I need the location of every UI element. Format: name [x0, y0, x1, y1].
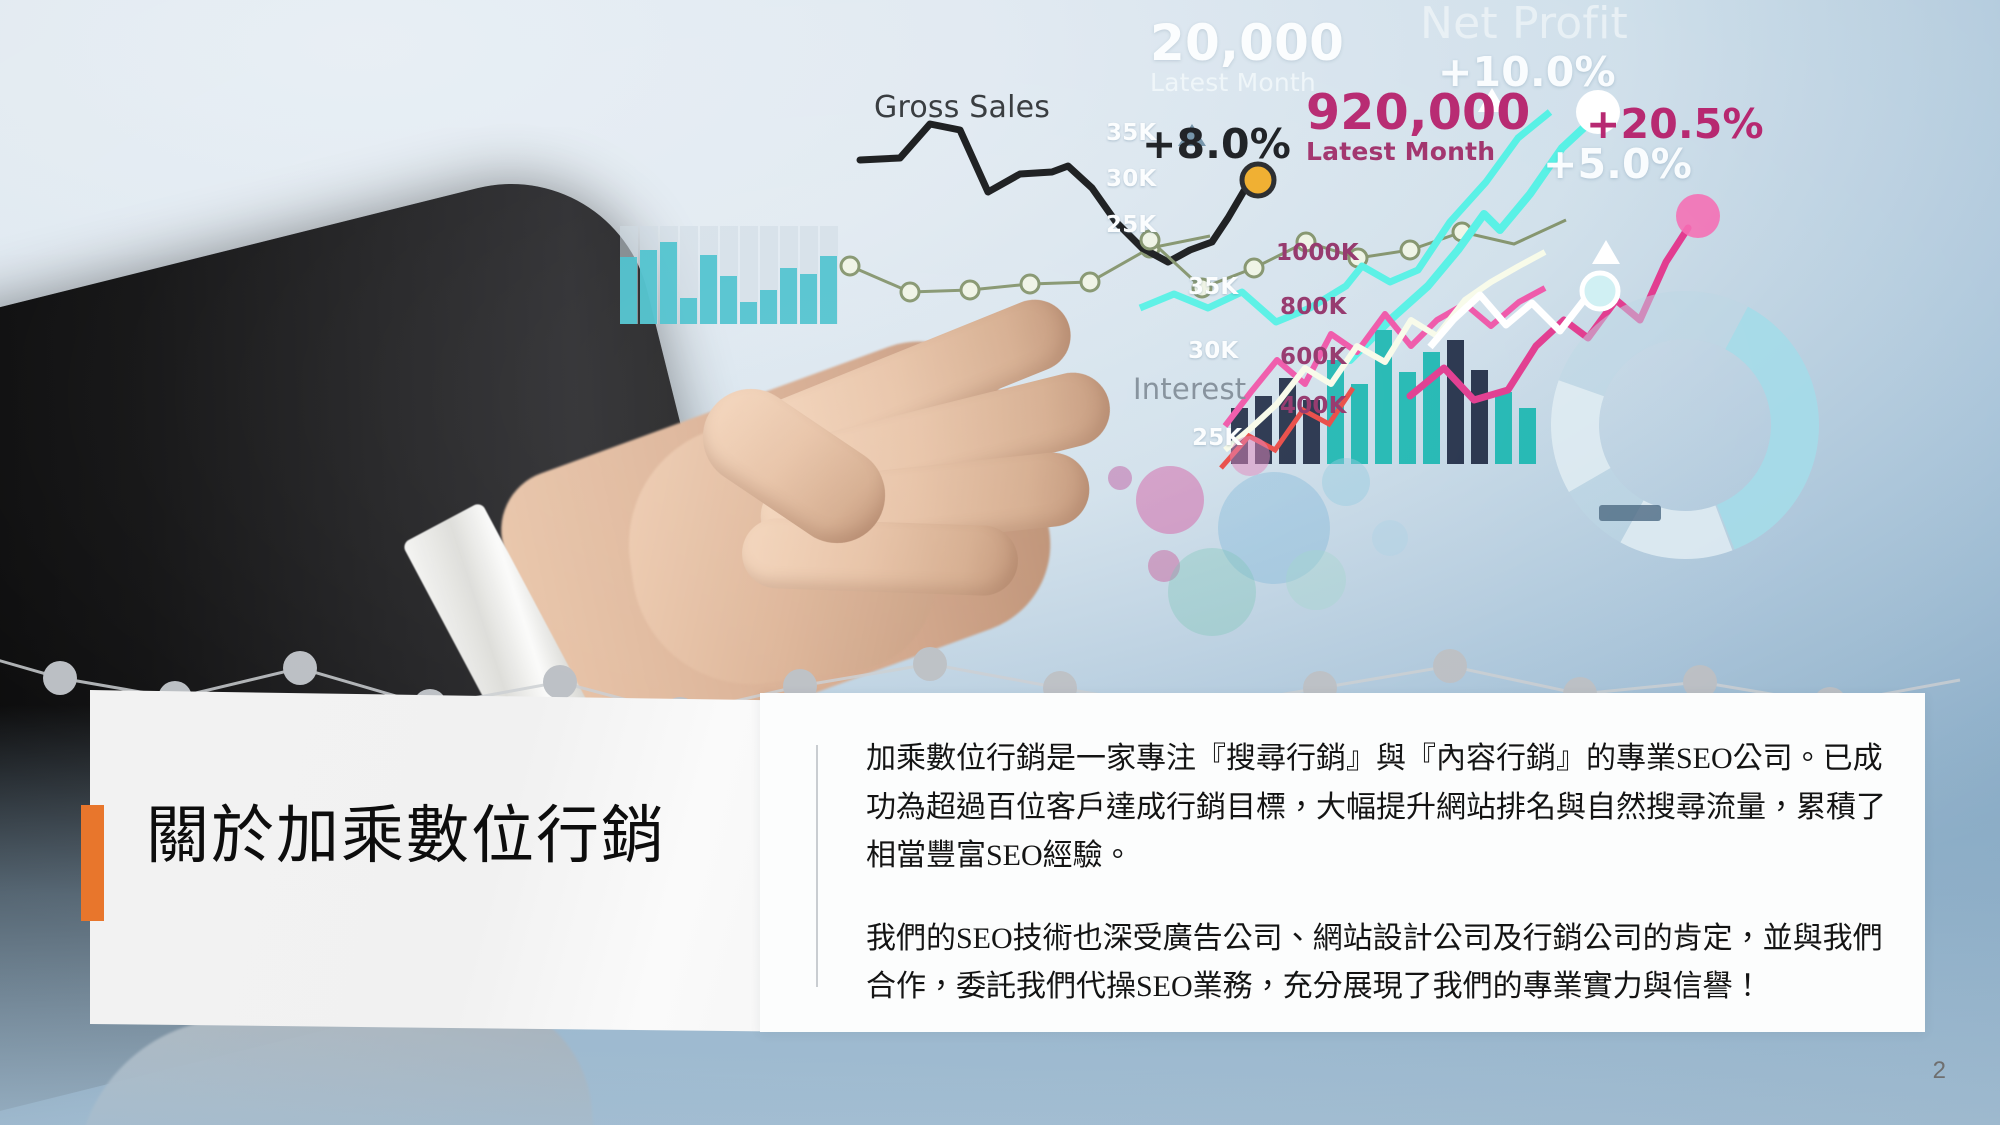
presentation-slide: Gross Sales 20,000 Latest Month +8.0% Ne… — [0, 0, 2000, 1125]
page-number: 2 — [1933, 1057, 1946, 1085]
paragraph-2: 我們的SEO技術也深受廣告公司、網站設計公司及行銷公司的肯定，並與我們合作，委託… — [866, 915, 1886, 1012]
body-text: 加乘數位行銷是一家專注『搜尋行銷』與『內容行銷』的專業SEO公司。已成功為超過百… — [866, 735, 1886, 1012]
page-title: 關於加乘數位行銷 — [146, 802, 786, 871]
accent-bar — [81, 805, 104, 921]
vertical-divider — [816, 745, 818, 987]
paragraph-1: 加乘數位行銷是一家專注『搜尋行銷』與『內容行銷』的專業SEO公司。已成功為超過百… — [866, 735, 1886, 881]
